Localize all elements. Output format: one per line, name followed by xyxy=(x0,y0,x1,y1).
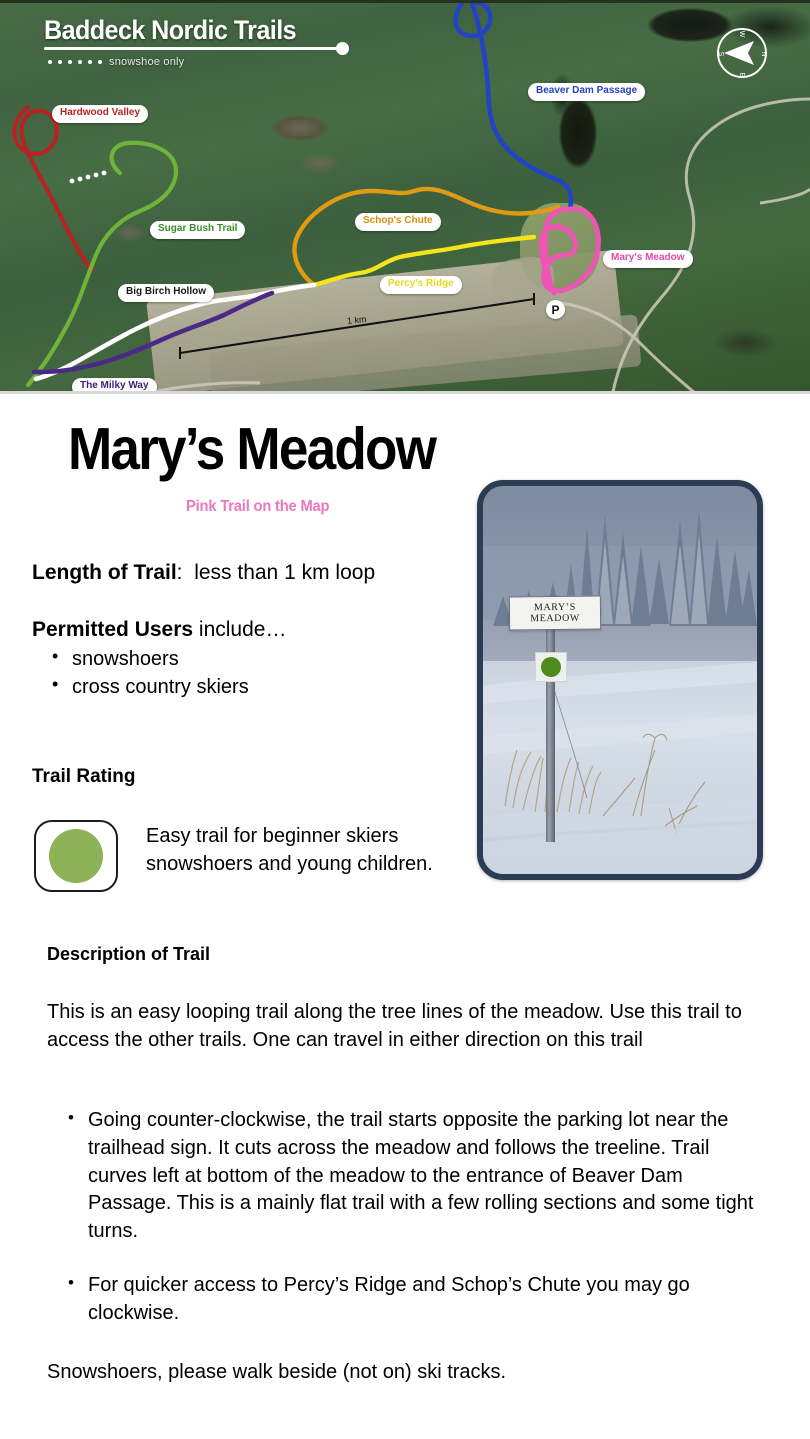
description-paragraph: This is an easy looping trail along the … xyxy=(47,998,747,1055)
trail-hardwood-valley xyxy=(14,107,92,271)
photo-inner: MARY’S MEADOW xyxy=(483,486,757,874)
permitted-users-list: snowshoers cross country skiers xyxy=(48,645,249,702)
map-title-rule xyxy=(44,47,340,50)
map-title-knob xyxy=(336,42,349,55)
svg-text:E: E xyxy=(738,73,745,78)
list-item: snowshoers xyxy=(48,645,249,673)
closing-note: Snowshoers, please walk beside (not on) … xyxy=(47,1361,506,1384)
trail-guide-page: Baddeck Nordic Trails snowshoe only Hard… xyxy=(0,0,810,1439)
parking-marker[interactable]: P xyxy=(546,300,565,319)
trail-rating-description: Easy trail for beginner skiers snowshoer… xyxy=(146,822,466,879)
trailhead-sign-line2: MEADOW xyxy=(530,613,580,625)
snowshoe-only-dots-icon xyxy=(48,60,102,64)
trail-blaze-marker xyxy=(535,652,567,682)
legend-label: snowshoe only xyxy=(109,56,184,68)
permitted-users-suffix: include… xyxy=(193,618,286,641)
snow-contours xyxy=(483,662,757,838)
length-of-trail-row: Length of Trail: less than 1 km loop xyxy=(32,561,375,585)
trailhead-sign: MARY’S MEADOW xyxy=(509,596,601,631)
scale-bar xyxy=(180,293,534,359)
list-item: cross country skiers xyxy=(48,673,249,701)
length-of-trail-value: less than 1 km loop xyxy=(194,561,375,584)
trail-rating-badge xyxy=(34,820,118,892)
trailhead-photo[interactable]: MARY’S MEADOW xyxy=(477,480,763,880)
map-label-schops-chute[interactable]: Schop's Chute xyxy=(355,213,441,231)
svg-text:S: S xyxy=(717,52,724,57)
compass-icon: W E S N xyxy=(714,25,770,81)
map-label-hardwood-valley[interactable]: Hardwood Valley xyxy=(52,105,148,123)
list-item: Going counter-clockwise, the trail start… xyxy=(64,1107,764,1246)
map-label-the-milky-way[interactable]: The Milky Way xyxy=(72,378,157,394)
green-blaze-dot-icon xyxy=(541,657,561,677)
trail-beaver-dam xyxy=(456,3,571,209)
map-label-sugar-bush-trail[interactable]: Sugar Bush Trail xyxy=(150,221,245,239)
page-title: Mary’s Meadow xyxy=(68,420,435,479)
snowshoe-only-connector xyxy=(70,171,107,184)
description-bullet-list: Going counter-clockwise, the trail start… xyxy=(64,1107,764,1354)
map-title: Baddeck Nordic Trails xyxy=(44,15,296,46)
trail-milky-way xyxy=(34,293,272,372)
svg-text:W: W xyxy=(738,31,745,38)
list-item: For quicker access to Percy’s Ridge and … xyxy=(64,1272,764,1328)
map-label-marys-meadow[interactable]: Mary's Meadow xyxy=(603,250,693,268)
map-label-percys-ridge[interactable]: Percy's Ridge xyxy=(380,276,462,294)
permitted-users-row: Permitted Users include… xyxy=(32,618,286,642)
description-heading: Description of Trail xyxy=(47,944,210,965)
page-subtitle: Pink Trail on the Map xyxy=(186,498,329,516)
trail-marys-meadow-west xyxy=(545,209,570,293)
permitted-users-label: Permitted Users xyxy=(32,618,193,641)
trail-rating-heading: Trail Rating xyxy=(32,766,135,788)
length-of-trail-label: Length of Trail xyxy=(32,561,177,584)
photo-scene xyxy=(483,486,757,874)
trailhead-sign-line1: MARY’S xyxy=(534,602,576,613)
svg-text:N: N xyxy=(760,51,767,56)
map-legend: snowshoe only xyxy=(48,56,184,68)
map-scale-label: 1 km xyxy=(347,314,367,326)
length-of-trail-separator: : xyxy=(177,561,183,584)
map-label-beaver-dam-passage[interactable]: Beaver Dam Passage xyxy=(528,83,645,101)
trail-map[interactable]: Baddeck Nordic Trails snowshoe only Hard… xyxy=(0,0,810,394)
green-circle-icon xyxy=(49,829,103,883)
map-label-big-birch-hollow[interactable]: Big Birch Hollow xyxy=(118,284,214,302)
